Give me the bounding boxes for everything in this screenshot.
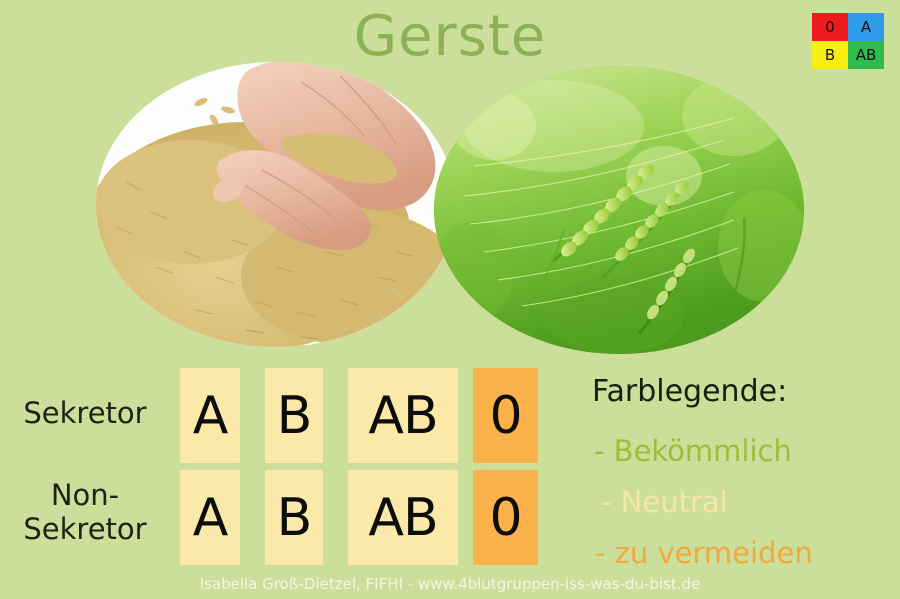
barley-grains-in-hands-image bbox=[96, 62, 456, 347]
green-barley-field-image bbox=[434, 66, 804, 354]
cell-sekretor-ab: AB bbox=[348, 368, 458, 463]
infographic-poster: Gerste 0 A B AB bbox=[0, 0, 900, 599]
blood-group-color-key: 0 A B AB bbox=[812, 13, 884, 69]
cell-sekretor-a: A bbox=[180, 368, 240, 463]
page-title: Gerste bbox=[0, 2, 900, 72]
cell-sekretor-0: 0 bbox=[473, 368, 538, 463]
legend-item-neutral: - Neutral bbox=[592, 477, 892, 528]
cell-non-sekretor-b: B bbox=[265, 470, 323, 565]
key-cell-a: A bbox=[848, 13, 884, 41]
legend-title: Farblegende: bbox=[592, 372, 892, 412]
legend-item-bekoemmlich: - Bekömmlich bbox=[592, 426, 892, 477]
grain-photo-art bbox=[96, 62, 456, 347]
key-cell-0: 0 bbox=[812, 13, 848, 41]
cell-non-sekretor-ab: AB bbox=[348, 470, 458, 565]
cell-non-sekretor-0: 0 bbox=[473, 470, 538, 565]
cell-sekretor-b: B bbox=[265, 368, 323, 463]
row-label-sekretor: Sekretor bbox=[0, 396, 170, 430]
row-label-non-sekretor: Non- Sekretor bbox=[0, 478, 170, 546]
row-label-non-sekretor-line1: Non- bbox=[0, 478, 170, 512]
table-row-non-sekretor: Non- Sekretor A B AB 0 bbox=[0, 470, 580, 565]
legend-item-zu-vermeiden: - zu vermeiden bbox=[592, 528, 892, 579]
footer-credit: Isabella Groß-Dietzel, FIFHI - www.4blut… bbox=[0, 575, 900, 593]
color-legend: Farblegende: - Bekömmlich - Neutral - zu… bbox=[592, 372, 892, 579]
row-label-non-sekretor-line2: Sekretor bbox=[0, 512, 170, 546]
field-photo-art bbox=[434, 66, 804, 354]
key-cell-ab: AB bbox=[848, 41, 884, 69]
secretor-table: Sekretor A B AB 0 Non- Sekretor A B AB 0 bbox=[0, 360, 580, 570]
key-cell-b: B bbox=[812, 41, 848, 69]
cell-non-sekretor-a: A bbox=[180, 470, 240, 565]
table-row-sekretor: Sekretor A B AB 0 bbox=[0, 368, 580, 463]
